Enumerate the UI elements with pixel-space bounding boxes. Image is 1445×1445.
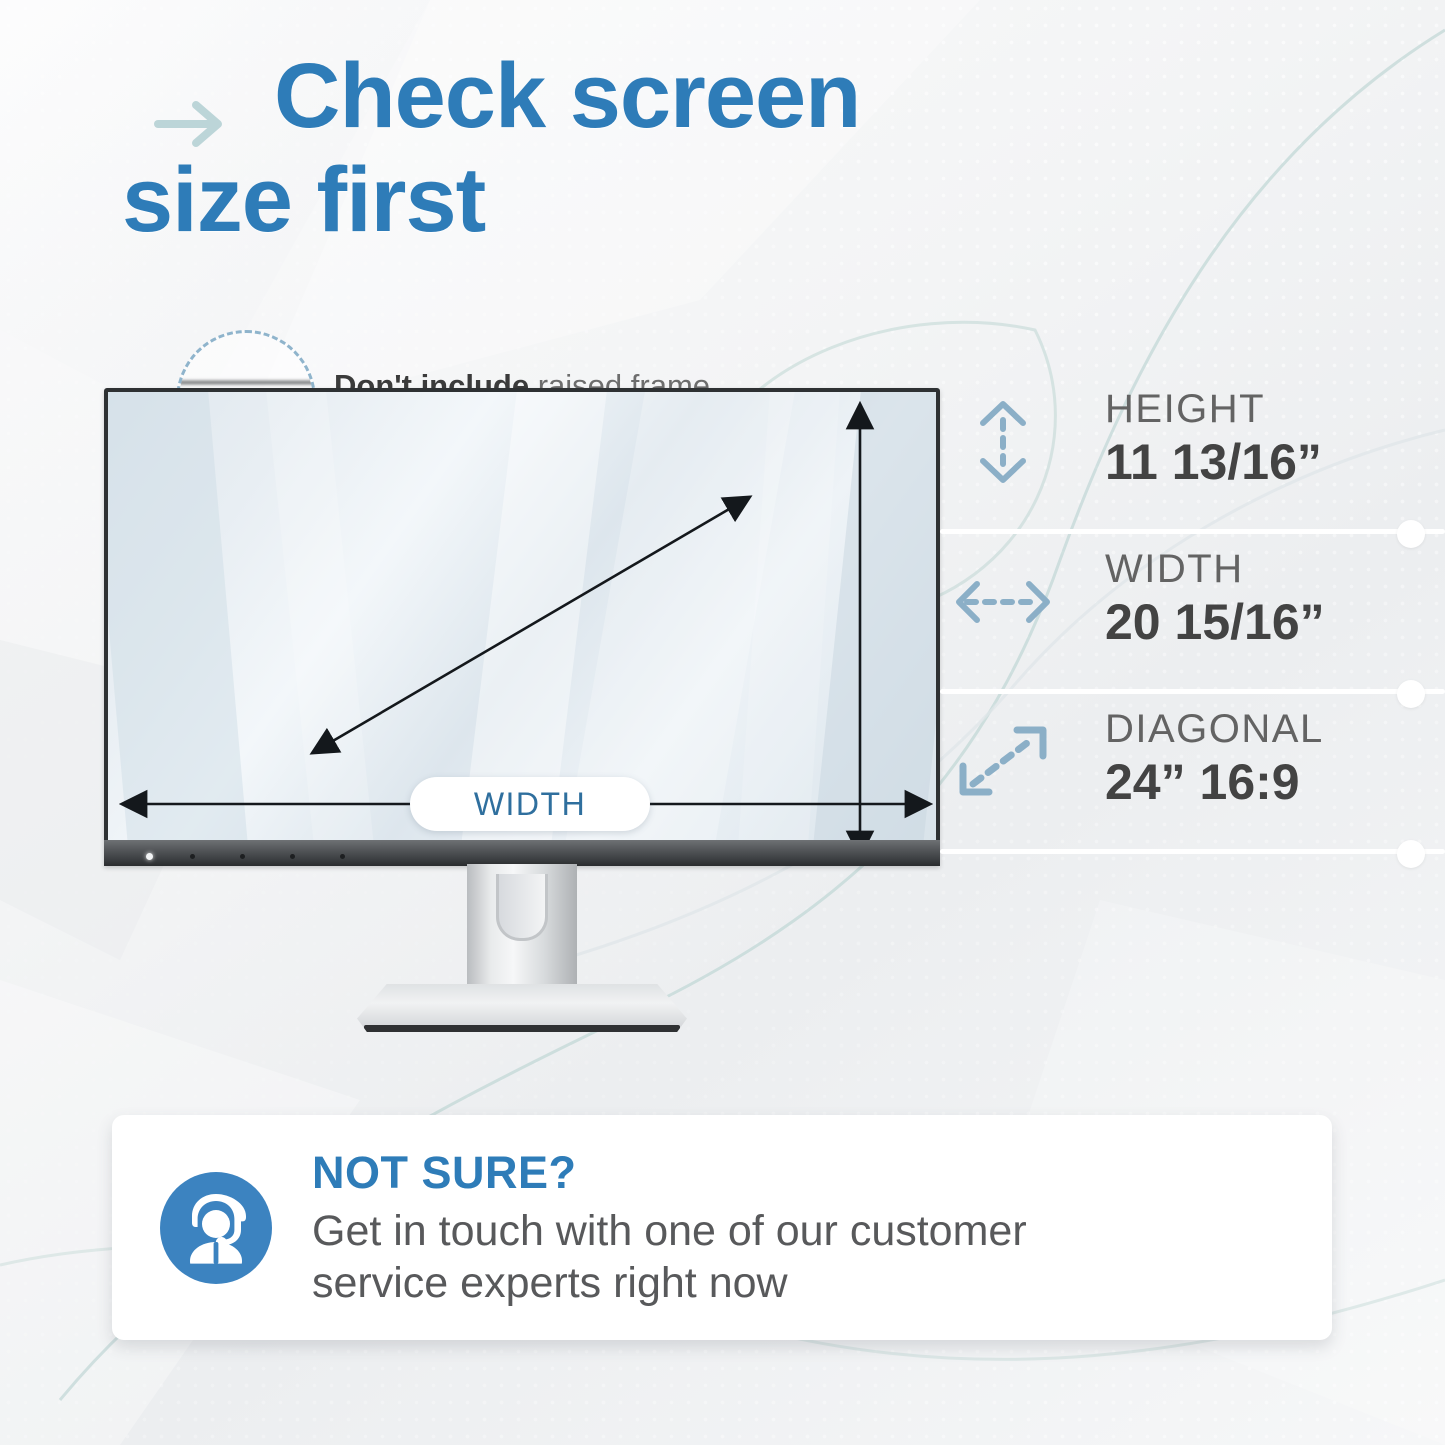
monitor-panel: WIDTH DIAGONAL HEIGHT bbox=[104, 388, 940, 866]
arrow-right-icon bbox=[154, 96, 228, 152]
headset-support-agent-icon bbox=[160, 1172, 272, 1284]
page-title-block: Check screen size first bbox=[122, 44, 1122, 252]
support-card-text: Get in touch with one of our customer se… bbox=[312, 1205, 1027, 1309]
spec-label-diagonal: DIAGONAL bbox=[1105, 706, 1324, 752]
page-title-line-1: Check screen bbox=[122, 44, 1122, 148]
support-card[interactable]: NOT SURE? Get in touch with one of our c… bbox=[112, 1115, 1332, 1340]
monitor-stand-base bbox=[357, 984, 687, 1032]
spec-separator bbox=[940, 529, 1445, 534]
page-title: Check screen size first bbox=[122, 44, 1122, 252]
support-card-title: NOT SURE? bbox=[312, 1147, 1027, 1199]
spec-list: HEIGHT 11 13/16” WIDTH 20 15/16” bbox=[955, 380, 1445, 860]
spec-value-width: 20 15/16” bbox=[1105, 592, 1325, 652]
spec-row-diagonal: DIAGONAL 24” 16:9 bbox=[955, 700, 1445, 860]
spec-separator bbox=[940, 689, 1445, 694]
spec-label-width: WIDTH bbox=[1105, 546, 1325, 592]
spec-row-height: HEIGHT 11 13/16” bbox=[955, 380, 1445, 540]
monitor-stand-neck bbox=[467, 864, 577, 992]
cable-slot bbox=[496, 874, 548, 941]
diagonal-corner-arrow-icon bbox=[955, 718, 1051, 806]
monitor-illustration: WIDTH DIAGONAL HEIGHT bbox=[104, 388, 940, 1038]
monitor-bottom-bezel bbox=[104, 840, 940, 866]
spec-separator bbox=[940, 849, 1445, 854]
page-title-line-2: size first bbox=[122, 148, 1122, 252]
support-card-text-line-2: service experts right now bbox=[312, 1257, 1027, 1309]
monitor-screen: WIDTH DIAGONAL HEIGHT bbox=[108, 392, 936, 844]
horizontal-double-arrow-icon bbox=[955, 558, 1051, 646]
spec-endpoint-dot bbox=[1397, 840, 1425, 868]
infographic-canvas: Check screen size first Don't include ra… bbox=[0, 0, 1445, 1445]
vertical-double-arrow-icon bbox=[955, 398, 1051, 486]
support-card-text-line-1: Get in touch with one of our customer bbox=[312, 1205, 1027, 1257]
spec-value-diagonal: 24” 16:9 bbox=[1105, 752, 1324, 812]
spec-value-height: 11 13/16” bbox=[1105, 432, 1322, 492]
spec-label-height: HEIGHT bbox=[1105, 386, 1322, 432]
screen-width-label: WIDTH bbox=[410, 777, 650, 831]
spec-row-width: WIDTH 20 15/16” bbox=[955, 540, 1445, 700]
